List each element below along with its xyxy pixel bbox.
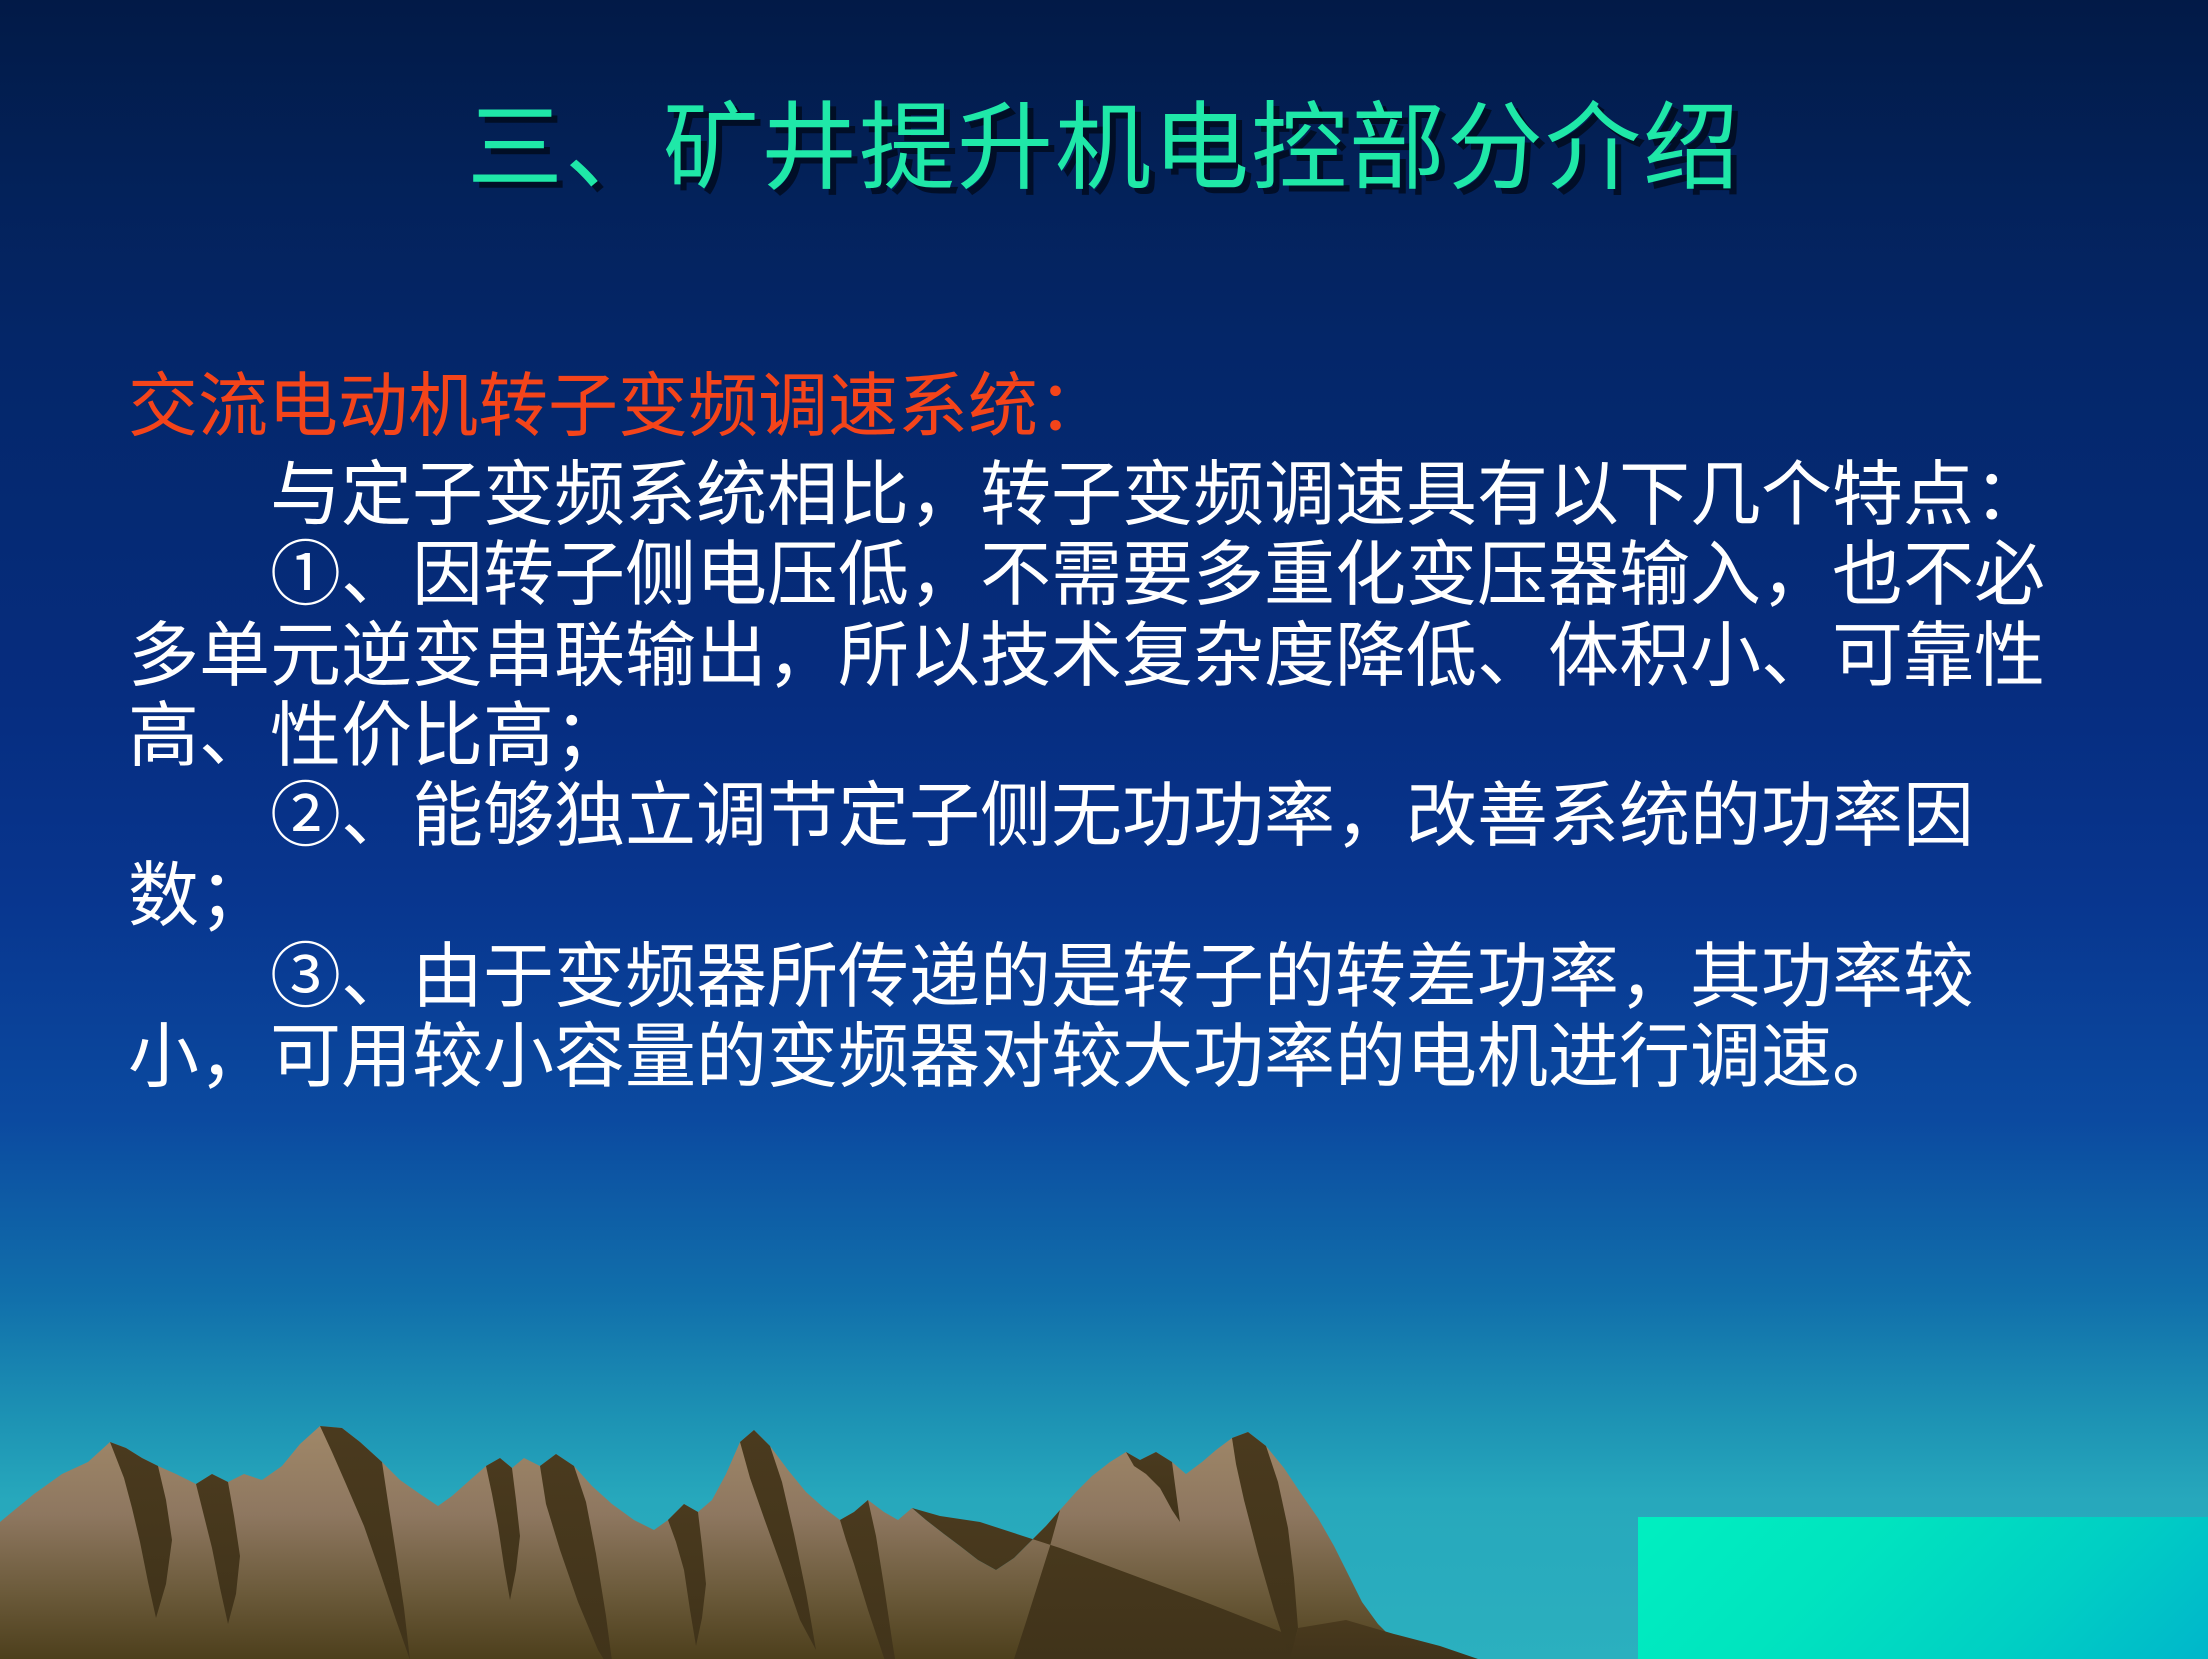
body-paragraph-item-1: ①、因转子侧电压低，不需要多重化变压器输入，也不必多单元逆变串联输出，所以技术复… [128, 535, 2083, 776]
body-paragraph-item-3: ③、由于变频器所传递的是转子的转差功率，其功率较小，可用较小容量的变频器对较大功… [128, 937, 2083, 1097]
slide-canvas: 三、矿井提升机电控部分介绍 交流电动机转子变频调速系统： 与定子变频系统相比，转… [0, 0, 2208, 1659]
body-paragraph-intro: 与定子变频系统相比，转子变频调速具有以下几个特点： [128, 455, 2083, 535]
slide-body: 交流电动机转子变频调速系统： 与定子变频系统相比，转子变频调速具有以下几个特点：… [128, 366, 2083, 1097]
section-heading: 交流电动机转子变频调速系统： [128, 366, 2083, 447]
body-paragraph-item-2: ②、能够独立调节定子侧无功功率，改善系统的功率因数； [128, 776, 2083, 936]
page-title: 三、矿井提升机电控部分介绍 [0, 95, 2208, 203]
mountain-range-silhouette [0, 1370, 2208, 1659]
